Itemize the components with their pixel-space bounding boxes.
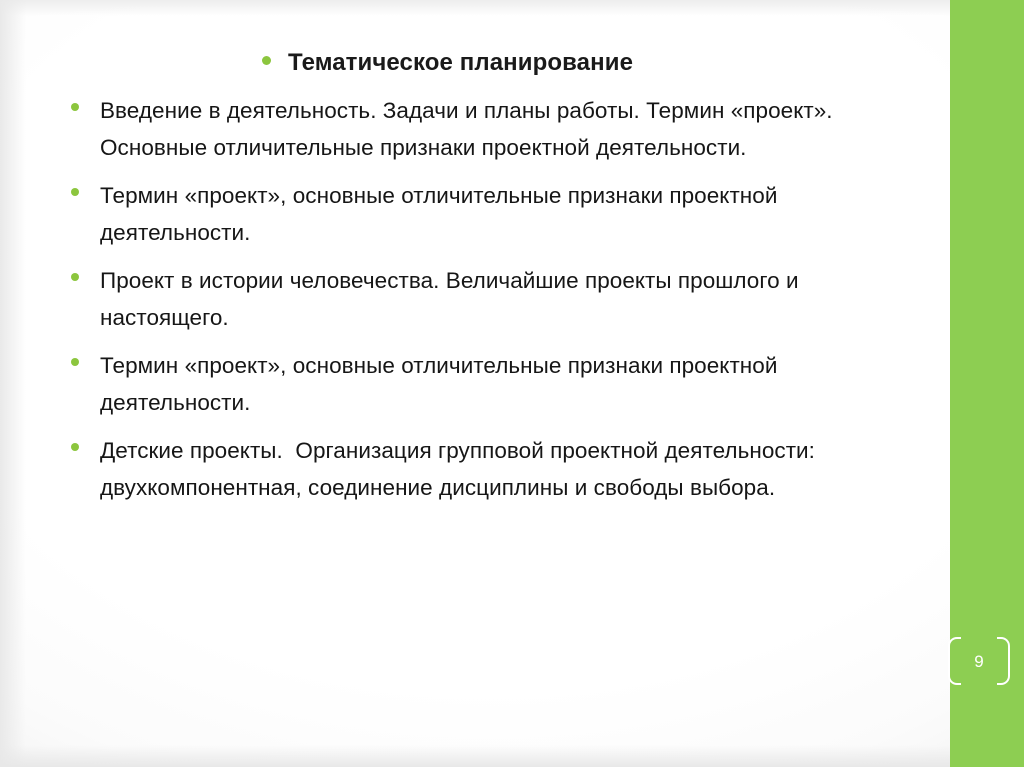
slide-content: Тематическое планирование Введение в дея… — [0, 0, 948, 767]
list-item-text: Термин «проект», основные отличительные … — [100, 183, 784, 245]
bullet-dot-icon — [262, 56, 271, 65]
bullet-list: Введение в деятельность. Задачи и планы … — [68, 92, 930, 517]
list-item-text: Детские проекты. Организация групповой п… — [100, 438, 821, 500]
list-item: Введение в деятельность. Задачи и планы … — [68, 92, 930, 166]
bullet-dot-icon — [71, 103, 79, 111]
page-number-value: 9 — [948, 637, 1010, 685]
page-number: 9 — [948, 637, 1010, 685]
list-item-text: Введение в деятельность. Задачи и планы … — [100, 98, 839, 160]
list-item: Термин «проект», основные отличительные … — [68, 347, 930, 421]
list-item: Детские проекты. Организация групповой п… — [68, 432, 930, 506]
bullet-dot-icon — [71, 358, 79, 366]
slide-canvas: 9 Тематическое планирование Введение в д… — [0, 0, 1024, 767]
slide-title-row: Тематическое планирование — [262, 50, 633, 76]
right-accent-band: 9 — [950, 0, 1024, 767]
bullet-dot-icon — [71, 443, 79, 451]
page-title: Тематическое планирование — [288, 50, 633, 76]
list-item: Термин «проект», основные отличительные … — [68, 177, 930, 251]
bullet-dot-icon — [71, 273, 79, 281]
list-item: Проект в истории человечества. Величайши… — [68, 262, 930, 336]
bullet-dot-icon — [71, 188, 79, 196]
list-item-text: Проект в истории человечества. Величайши… — [100, 268, 811, 330]
list-item-text: Термин «проект», основные отличительные … — [100, 353, 784, 415]
